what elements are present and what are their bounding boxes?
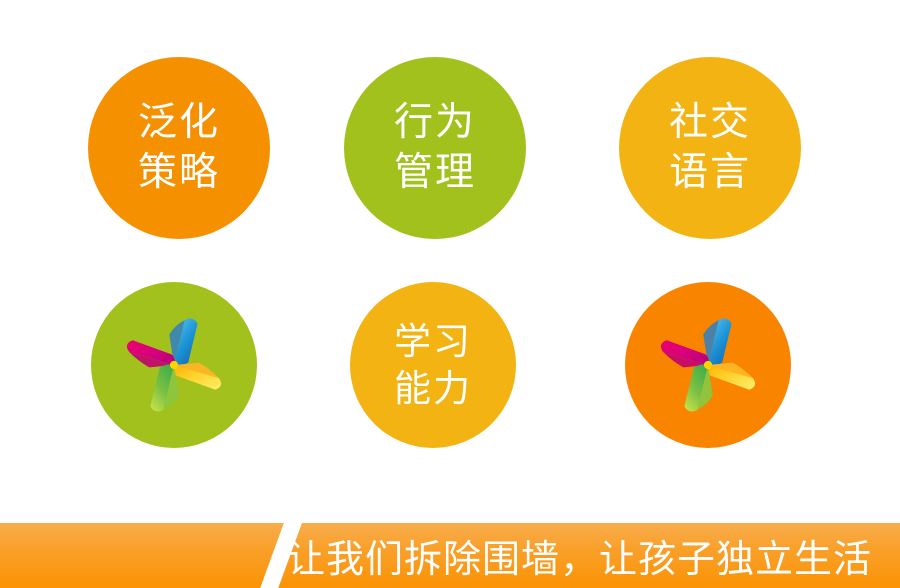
circle-label-line2: 管理: [394, 148, 476, 198]
circle-label-line1: 行为: [394, 98, 476, 148]
banner-slogan: 让我们拆除围墙，让孩子独立生活: [287, 523, 872, 588]
circle-behavior-management[interactable]: 行为 管理: [344, 57, 526, 239]
bottom-banner: 让我们拆除围墙，让孩子独立生活: [0, 523, 900, 588]
circle-generalization-strategy[interactable]: 泛化 策略: [88, 57, 270, 239]
slide-canvas: 泛化 策略 行为 管理 社交 语言: [0, 0, 900, 588]
circle-label-line2: 能力: [394, 365, 472, 412]
circle-pinwheel-orange[interactable]: [625, 282, 791, 448]
circle-grid: 泛化 策略 行为 管理 社交 语言: [0, 0, 900, 500]
circle-label-line1: 泛化: [138, 98, 220, 148]
circle-social-language[interactable]: 社交 语言: [619, 57, 801, 239]
circle-label-line1: 学习: [394, 318, 472, 365]
circle-label-line2: 语言: [669, 148, 751, 198]
pinwheel-logo-icon: [649, 306, 767, 424]
pinwheel-logo-icon: [115, 306, 233, 424]
circle-label-line1: 社交: [669, 98, 751, 148]
circle-learning-ability[interactable]: 学习 能力: [350, 282, 516, 448]
circle-label-line2: 策略: [138, 148, 220, 198]
circle-pinwheel-green[interactable]: [91, 282, 257, 448]
